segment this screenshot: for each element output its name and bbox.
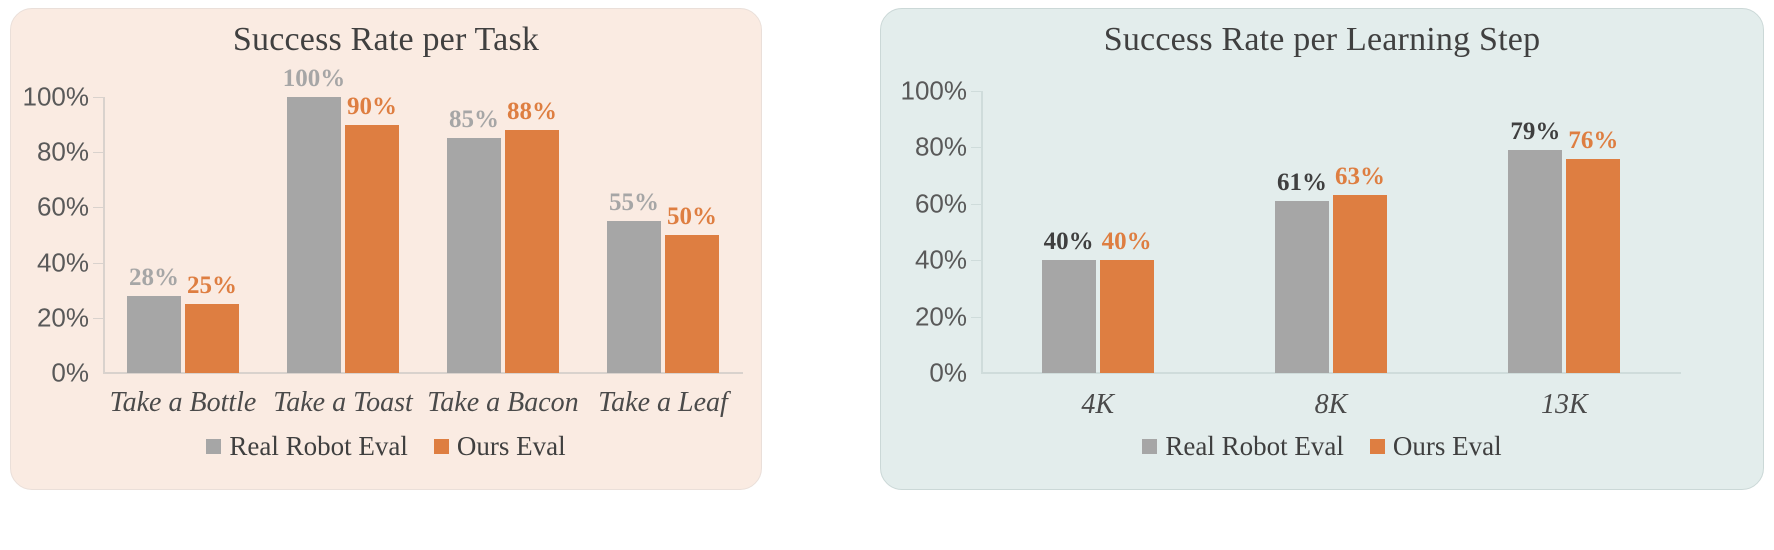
bar-ours[interactable] [1100, 260, 1154, 373]
bar-real-robot[interactable] [1508, 150, 1562, 373]
bar-column: 100% [287, 97, 341, 373]
legend-item-real-robot-eval[interactable]: Real Robot Eval [206, 431, 407, 462]
y-tick-60 [971, 204, 981, 205]
chart-title-learning-step: Success Rate per Learning Step [881, 21, 1763, 59]
bar-value-label: 61% [1277, 169, 1327, 197]
bar-value-label: 76% [1568, 127, 1618, 155]
y-axis-label-60: 60% [915, 188, 967, 219]
bar-column: 40% [1042, 91, 1096, 373]
bar-value-label: 88% [507, 98, 557, 126]
y-axis-label-100: 100% [23, 82, 90, 113]
legend-swatch-icon [434, 439, 449, 454]
bar-value-label: 63% [1335, 163, 1385, 191]
y-axis-label-0: 0% [51, 358, 89, 389]
bar-real-robot[interactable] [127, 296, 181, 373]
bar-column: 88% [505, 97, 559, 373]
bar-column: 76% [1566, 91, 1620, 373]
bar-group: 85% 88% [423, 97, 583, 373]
bar-column: 40% [1100, 91, 1154, 373]
y-tick-40 [971, 260, 981, 261]
bar-group: 100% 90% [263, 97, 423, 373]
bar-ours[interactable] [185, 304, 239, 373]
bar-group: 40% 40% [981, 91, 1214, 373]
bar-real-robot[interactable] [447, 138, 501, 373]
bar-value-label: 40% [1102, 228, 1152, 256]
y-axis-label-20: 20% [37, 302, 89, 333]
plot-area-task: 100% 80% 60% 40% 20% 0% 28% 25% [103, 97, 743, 373]
bar-column: 90% [345, 97, 399, 373]
x-axis-label: 4K [981, 389, 1214, 421]
bar-column: 25% [185, 97, 239, 373]
bar-real-robot[interactable] [607, 221, 661, 373]
y-tick-20 [971, 317, 981, 318]
bar-column: 85% [447, 97, 501, 373]
bar-group: 79% 76% [1448, 91, 1681, 373]
y-tick-80 [93, 152, 103, 153]
y-axis-label-0: 0% [929, 358, 967, 389]
bar-value-label: 55% [609, 189, 659, 217]
y-tick-100 [971, 91, 981, 92]
y-tick-80 [971, 147, 981, 148]
bar-ours[interactable] [345, 125, 399, 373]
bar-ours[interactable] [1333, 195, 1387, 373]
legend-swatch-icon [206, 439, 221, 454]
bar-group: 28% 25% [103, 97, 263, 373]
chart-panel-learning-step: Success Rate per Learning Step 100% 80% … [880, 8, 1764, 490]
figure-canvas: Success Rate per Task 100% 80% 60% 40% 2… [0, 0, 1774, 550]
bar-column: 28% [127, 97, 181, 373]
legend-task: Real Robot Eval Ours Eval [11, 431, 761, 462]
plot-area-learning-step: 100% 80% 60% 40% 20% 0% 40% 40% [981, 91, 1681, 373]
bar-value-label: 25% [187, 272, 237, 300]
x-axis-label: Take a Bacon [423, 387, 583, 419]
bar-group: 55% 50% [583, 97, 743, 373]
bar-ours[interactable] [1566, 159, 1620, 373]
bar-groups-learning-step: 40% 40% 61% 63% [981, 91, 1681, 373]
y-tick-60 [93, 207, 103, 208]
bar-column: 63% [1333, 91, 1387, 373]
legend-item-real-robot-eval[interactable]: Real Robot Eval [1142, 431, 1343, 462]
chart-panel-task: Success Rate per Task 100% 80% 60% 40% 2… [10, 8, 762, 490]
bar-value-label: 50% [667, 203, 717, 231]
y-axis-label-40: 40% [37, 247, 89, 278]
x-axis-label: Take a Bottle [103, 387, 263, 419]
y-axis-label-20: 20% [915, 301, 967, 332]
bar-column: 55% [607, 97, 661, 373]
x-axis-label: 8K [1214, 389, 1447, 421]
bar-column: 79% [1508, 91, 1562, 373]
legend-swatch-icon [1370, 439, 1385, 454]
legend-learning-step: Real Robot Eval Ours Eval [881, 431, 1763, 462]
bar-value-label: 85% [449, 106, 499, 134]
bar-value-label: 90% [347, 93, 397, 121]
y-axis-label-80: 80% [37, 137, 89, 168]
y-axis-label-40: 40% [915, 245, 967, 276]
bar-ours[interactable] [505, 130, 559, 373]
x-axis-labels-task: Take a Bottle Take a Toast Take a Bacon … [103, 387, 743, 419]
legend-label: Ours Eval [457, 431, 566, 462]
bar-real-robot[interactable] [1042, 260, 1096, 373]
bar-value-label: 40% [1044, 228, 1094, 256]
legend-label: Real Robot Eval [229, 431, 407, 462]
legend-item-ours-eval[interactable]: Ours Eval [434, 431, 566, 462]
bar-column: 61% [1275, 91, 1329, 373]
x-axis-labels-learning-step: 4K 8K 13K [981, 389, 1681, 421]
bar-value-label: 100% [283, 65, 346, 93]
x-axis-label: 13K [1448, 389, 1681, 421]
y-tick-20 [93, 318, 103, 319]
y-tick-100 [93, 97, 103, 98]
bar-value-label: 28% [129, 264, 179, 292]
bar-value-label: 79% [1510, 118, 1560, 146]
legend-label: Real Robot Eval [1165, 431, 1343, 462]
legend-swatch-icon [1142, 439, 1157, 454]
legend-item-ours-eval[interactable]: Ours Eval [1370, 431, 1502, 462]
bar-groups-task: 28% 25% 100% 90% [103, 97, 743, 373]
chart-title-task: Success Rate per Task [11, 21, 761, 59]
bar-real-robot[interactable] [287, 97, 341, 373]
x-axis-label: Take a Toast [263, 387, 423, 419]
y-axis-label-60: 60% [37, 192, 89, 223]
bar-group: 61% 63% [1214, 91, 1447, 373]
y-axis-label-80: 80% [915, 132, 967, 163]
y-axis-label-100: 100% [901, 76, 968, 107]
bar-column: 50% [665, 97, 719, 373]
legend-label: Ours Eval [1393, 431, 1502, 462]
y-tick-40 [93, 263, 103, 264]
x-axis-label: Take a Leaf [583, 387, 743, 419]
bar-ours[interactable] [665, 235, 719, 373]
bar-real-robot[interactable] [1275, 201, 1329, 373]
